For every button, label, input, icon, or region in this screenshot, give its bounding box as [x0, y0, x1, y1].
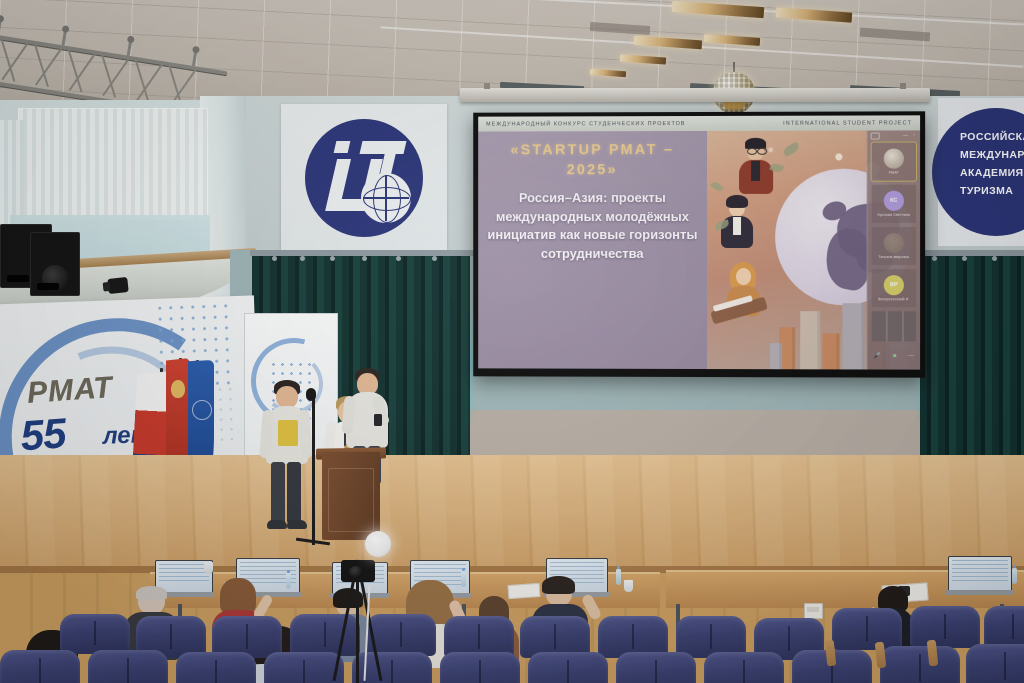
banner-anniversary-number: 55	[19, 409, 67, 460]
window-controls[interactable]: — ▫	[903, 132, 917, 138]
stage-light-fixture	[107, 277, 128, 294]
participant-tile[interactable]: ВР Воскресенский И.	[872, 269, 916, 307]
slide-header-bar: МЕЖДУНАРОДНЫЙ КОНКУРС СТУДЕНЧЕСКИХ ПРОЕК…	[478, 115, 920, 131]
microphone-icon[interactable]: 🎤	[873, 352, 881, 359]
projection-screen-housing	[460, 88, 930, 102]
slide-header-right: INTERNATIONAL STUDENT PROJECT	[783, 120, 912, 126]
water-bottle	[1012, 568, 1017, 584]
banner-text: РОССИЙСКАЯ МЕЖДУНАРОДНАЯ АКАДЕМИЯ ТУРИЗМ…	[960, 128, 1024, 200]
documents	[508, 583, 541, 599]
slide-title: «STARTUP РМАТ – 2025»	[486, 140, 699, 180]
avatar	[884, 233, 904, 253]
participant-tile[interactable]: РМАТ	[872, 142, 916, 180]
phone	[374, 414, 382, 426]
podium	[322, 452, 380, 540]
banner-line-3: АКАДЕМИЯ	[960, 164, 1024, 182]
banner-line-1: РОССИЙСКАЯ	[960, 128, 1024, 146]
stage-curtain-right	[920, 252, 1024, 462]
floor-reflection	[0, 455, 1024, 575]
more-options-icon[interactable]: ⋯	[908, 353, 914, 360]
slide-text-column: «STARTUP РМАТ – 2025» Россия–Азия: проек…	[478, 131, 707, 369]
window-blinds	[18, 108, 208, 220]
participant-name: РМАТ	[889, 171, 899, 175]
participant-name: Куслова Светлана	[878, 213, 911, 217]
projected-slide: МЕЖДУНАРОДНЫЙ КОНКУРС СТУДЕНЧЕСКИХ ПРОЕК…	[478, 115, 920, 369]
academy-banner: РОССИЙСКАЯ МЕЖДУНАРОДНАЯ АКАДЕМИЯ ТУРИЗМ…	[938, 98, 1024, 246]
paper-cup	[204, 562, 213, 574]
water-bottle	[286, 573, 291, 589]
participant-tile[interactable]: КС Куслова Светлана	[872, 185, 916, 223]
banner-brand: РМАТ	[26, 371, 114, 411]
banner-line-2: МЕЖДУНАРОДНАЯ	[960, 146, 1024, 164]
camera-icon	[871, 133, 880, 140]
water-bottle	[616, 569, 621, 585]
banner-line-4: ТУРИЗМА	[960, 182, 1024, 200]
conference-hall-photo: РОССИЙСКАЯ МЕЖДУНАРОДНАЯ АКАДЕМИЯ ТУРИЗМ…	[0, 0, 1024, 683]
microphone-head	[306, 388, 316, 401]
institute-logo-plaque	[281, 104, 447, 252]
avatar: ВР	[884, 275, 904, 295]
avatar: КС	[884, 191, 904, 211]
water-bottle	[461, 571, 466, 587]
paper-cup	[624, 580, 633, 592]
avatar	[884, 149, 904, 169]
slide-subtitle: Россия–Азия: проекты международных молод…	[486, 189, 699, 263]
projection-screen: МЕЖДУНАРОДНЫЙ КОНКУРС СТУДЕНЧЕСКИХ ПРОЕК…	[473, 111, 925, 377]
microphone-stand	[312, 395, 315, 545]
participant-tile[interactable]: Татьяна кварталь	[872, 227, 916, 265]
participant-name: Татьяна кварталь	[878, 255, 909, 259]
wall-outlet-box	[804, 603, 823, 619]
loudspeaker	[30, 232, 80, 296]
participant-name: Воскресенский И.	[878, 297, 909, 301]
camera-icon[interactable]: ■	[893, 353, 897, 359]
ring-light	[365, 531, 391, 557]
ito-logo-icon	[305, 119, 423, 237]
window-blinds	[0, 120, 24, 228]
video-call-participants-panel[interactable]: — ▫ РМАТ КС Куслова Светлана Татьяна ква…	[867, 130, 920, 369]
camera-lens-icon	[349, 566, 363, 578]
call-controls[interactable]: 🎤 ■ ⋯	[868, 352, 920, 359]
slide-header-left: МЕЖДУНАРОДНЫЙ КОНКУРС СТУДЕНЧЕСКИХ ПРОЕК…	[486, 121, 686, 128]
participant-gallery-strip[interactable]	[872, 311, 916, 341]
